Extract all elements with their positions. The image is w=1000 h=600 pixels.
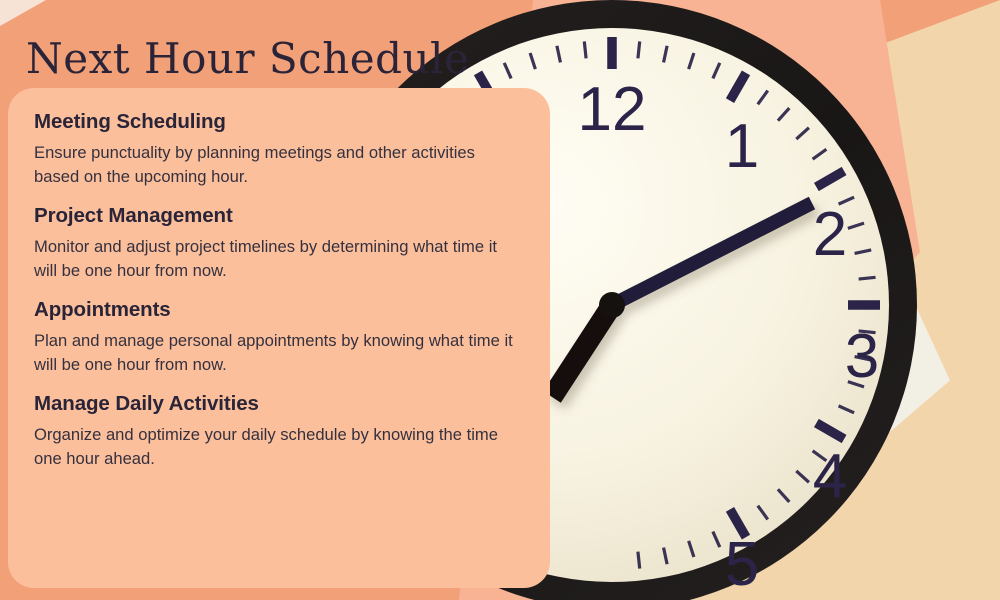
page-title: Next Hour Schedule — [26, 34, 469, 83]
clock-center-cap — [599, 292, 625, 318]
clock-numeral-5: 5 — [725, 530, 759, 599]
poster-canvas: 12 1 2 3 4 5 Next Hour Schedule Meeting … — [0, 0, 1000, 600]
section-heading: Appointments — [34, 298, 524, 322]
section-manage-daily-activities: Manage Daily Activities Organize and opt… — [34, 392, 524, 470]
content-card: Meeting Scheduling Ensure punctuality by… — [8, 88, 550, 588]
section-body: Ensure punctuality by planning meetings … — [34, 141, 524, 188]
clock-numeral-1: 1 — [725, 112, 759, 181]
section-meeting-scheduling: Meeting Scheduling Ensure punctuality by… — [34, 110, 524, 188]
clock-numeral-2: 2 — [813, 200, 847, 269]
section-body: Organize and optimize your daily schedul… — [34, 423, 524, 470]
clock-numeral-12: 12 — [578, 75, 647, 144]
clock-numeral-4: 4 — [813, 442, 847, 511]
section-body: Plan and manage personal appointments by… — [34, 329, 524, 376]
section-heading: Manage Daily Activities — [34, 392, 524, 416]
section-heading: Meeting Scheduling — [34, 110, 524, 134]
section-project-management: Project Management Monitor and adjust pr… — [34, 204, 524, 282]
section-appointments: Appointments Plan and manage personal ap… — [34, 298, 524, 376]
section-body: Monitor and adjust project timelines by … — [34, 235, 524, 282]
section-heading: Project Management — [34, 204, 524, 228]
clock-numeral-3: 3 — [845, 322, 879, 391]
